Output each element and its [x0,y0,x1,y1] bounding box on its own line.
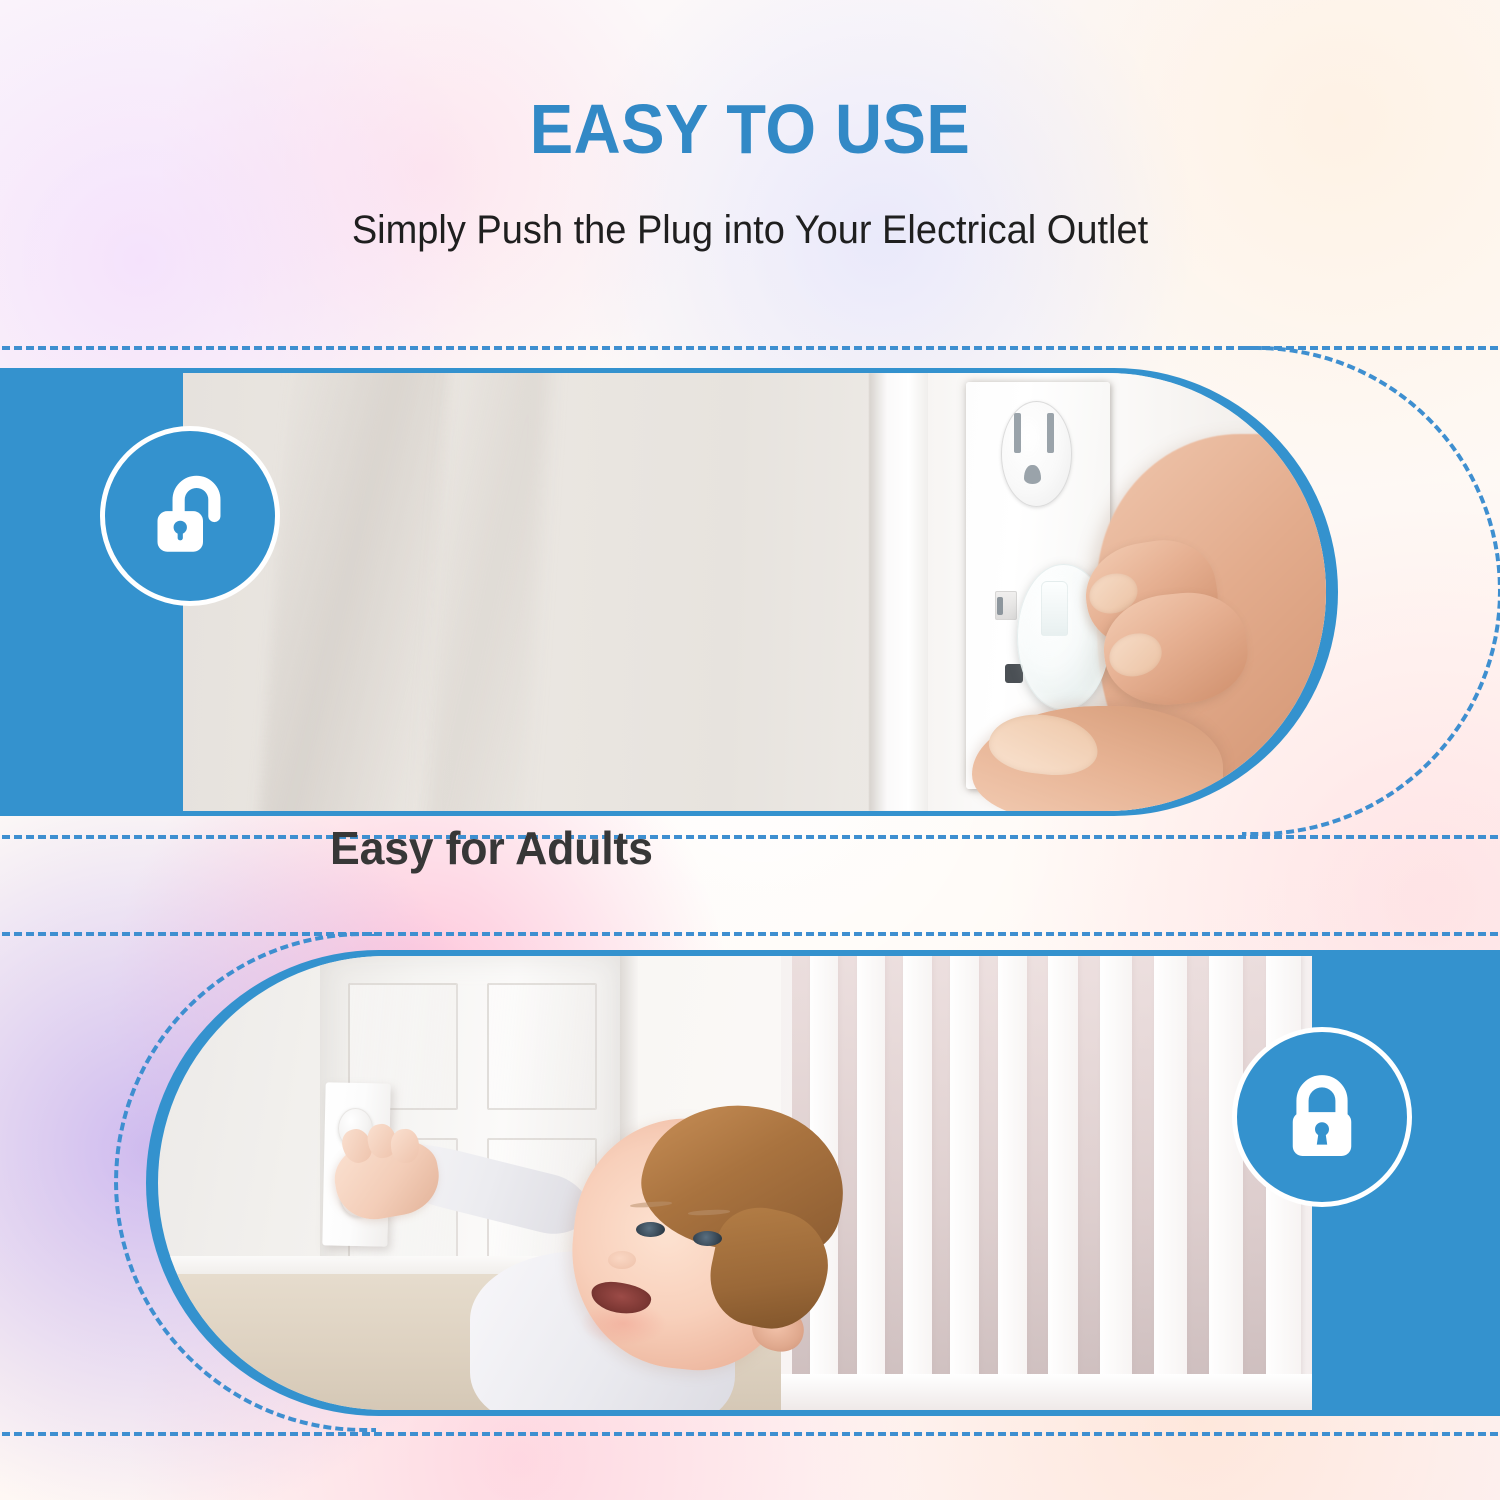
photo-frame [146,950,1312,1416]
photo-toddler-reaching-outlet [158,956,1312,1410]
photo-frame [183,368,1338,816]
dashed-divider-bottom [0,1432,1500,1436]
lock-icon [1270,1065,1374,1169]
header: EASY TO USE Simply Push the Plug into Yo… [0,0,1500,250]
dashed-divider-top [0,932,1500,936]
panel-label-easy-for-adults: Easy for Adults [330,821,653,875]
page-title: EASY TO USE [53,94,1448,164]
page-subtitle: Simply Push the Plug into Your Electrica… [38,210,1463,250]
product-infographic: EASY TO USE Simply Push the Plug into Yo… [0,0,1500,1500]
feature-panel-easy-for-adults: Easy for Adults [0,346,1500,840]
outlet-socket-upper [1001,401,1072,506]
feature-panel-hard-for-toddlers: Hard for Toddlers [0,932,1500,1436]
unlock-icon-badge [100,426,280,606]
lock-icon-badge [1232,1027,1412,1207]
dashed-divider-bottom [0,835,1500,839]
photo-adult-inserting-outlet-cover [183,373,1326,811]
crib [781,956,1312,1410]
unlock-icon [138,464,242,568]
